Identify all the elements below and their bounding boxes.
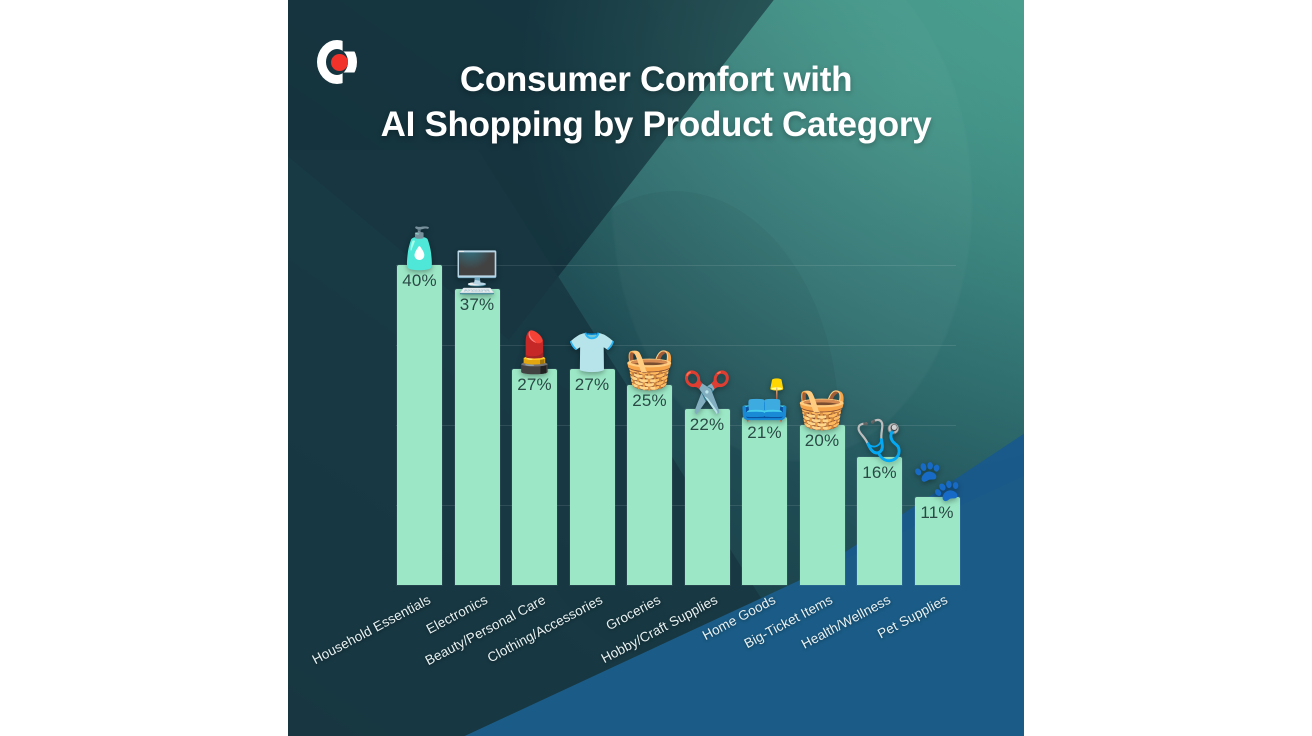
screenshot-canvas: Consumer Comfort with AI Shopping by Pro…: [0, 0, 1312, 736]
bar-value-label: 21%: [742, 423, 787, 443]
bar-group[interactable]: 37%🖥️: [455, 289, 500, 585]
bar-value-label: 16%: [857, 463, 902, 483]
bar-value-label: 40%: [397, 271, 442, 291]
bar-group[interactable]: 27%👕: [570, 369, 615, 585]
desktop-monitor-icon: 🖥️: [452, 253, 502, 293]
bar-value-label: 25%: [627, 391, 672, 411]
bar[interactable]: 27%👕: [570, 369, 615, 585]
tshirt-icon: 👕: [567, 333, 617, 373]
bar[interactable]: 40%🧴: [397, 265, 442, 585]
scissors-glue-craft-icon: ✂️: [682, 373, 732, 413]
first-aid-kit-icon: 🩺: [855, 421, 905, 461]
pet-food-bowl-icon: 🐾: [912, 461, 962, 501]
bar-group[interactable]: 40%🧴: [397, 265, 442, 585]
bar-value-label: 27%: [512, 375, 557, 395]
lipstick-cosmetics-icon: 💄: [510, 333, 560, 373]
bar-value-label: 20%: [800, 431, 845, 451]
washing-machine-icon: 🧺: [797, 389, 847, 429]
bar-value-label: 22%: [685, 415, 730, 435]
bar-value-label: 27%: [570, 375, 615, 395]
bar-value-label: 37%: [455, 295, 500, 315]
bar-chart-plot: 40%🧴37%🖥️27%💄27%👕25%🧺22%✂️21%🛋️20%🧺16%🩺1…: [288, 0, 1024, 736]
armchair-icon: 🛋️: [740, 381, 790, 421]
detergent-bottle-icon: 🧴: [395, 229, 445, 269]
bar[interactable]: 37%🖥️: [455, 289, 500, 585]
bar-value-label: 11%: [915, 503, 960, 523]
grocery-basket-icon: 🧺: [625, 349, 675, 389]
infographic-card: Consumer Comfort with AI Shopping by Pro…: [288, 0, 1024, 736]
